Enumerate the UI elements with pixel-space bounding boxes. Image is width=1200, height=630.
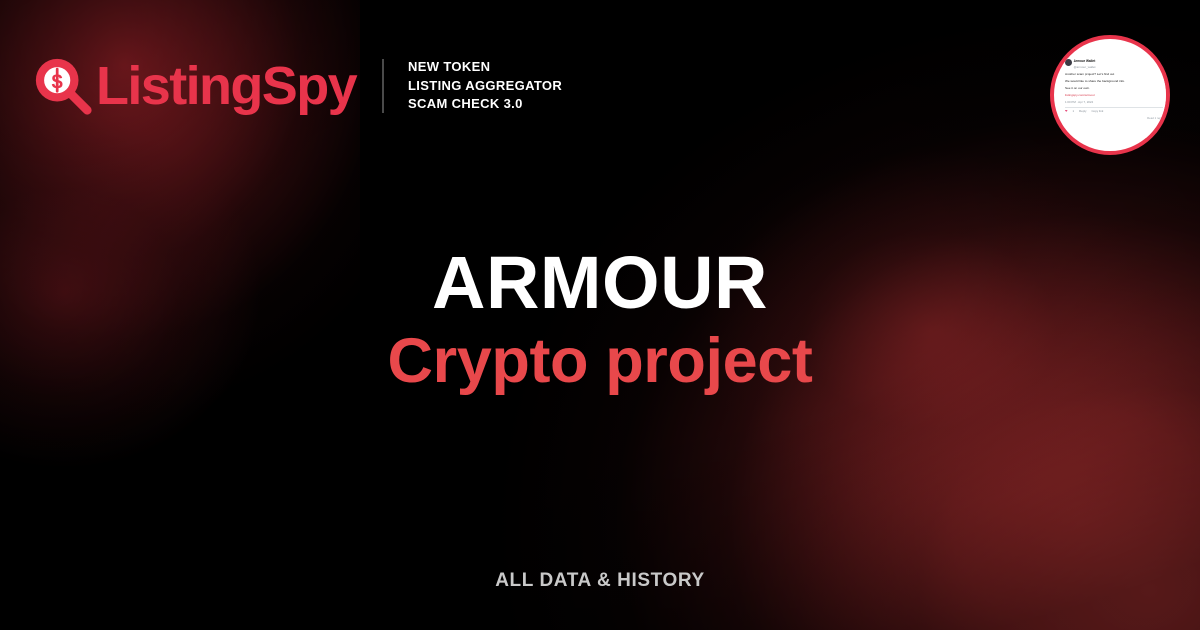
tweet-card: Armour Wallet @armour_wallet Another sca… [1062, 58, 1166, 138]
magnifier-dollar-icon: $ [32, 55, 94, 117]
avatar [1065, 59, 1072, 66]
tweet-link[interactable]: listingspy.com/armour [1065, 93, 1163, 98]
tweet-line-2: We would like to share the background in… [1065, 79, 1163, 84]
tweet-timestamp: 1:00 PM · Apr 7, 2024 [1065, 100, 1163, 105]
page-title: ARMOUR [0, 245, 1200, 320]
like-icon[interactable]: ❤ [1065, 109, 1067, 114]
tweet-line-3: See it on our own. [1065, 86, 1163, 91]
hero-block: ARMOUR Crypto project [0, 245, 1200, 395]
tweet-header: Armour Wallet @armour_wallet [1065, 59, 1163, 69]
tweet-handle: @armour_wallet [1074, 65, 1096, 70]
tweet-copylink-action[interactable]: Copy link [1091, 109, 1103, 114]
footer-block: ALL DATA & HISTORY [0, 570, 1200, 592]
header-divider [382, 59, 384, 113]
tagline-line-3: SCAM CHECK 3.0 [408, 95, 562, 113]
tagline-line-1: NEW TOKEN [408, 58, 562, 76]
listingspy-share-card: $ ListingSpy NEW TOKEN LISTING AGGREGATO… [0, 0, 1200, 630]
footer-caption: ALL DATA & HISTORY [0, 570, 1200, 592]
logo-wordmark: ListingSpy [96, 59, 356, 113]
tweet-display-name: Armour Wallet [1074, 59, 1096, 64]
tweet-body: Another scam project? Let's find out We … [1065, 72, 1163, 98]
page-subtitle: Crypto project [0, 328, 1200, 395]
tweet-author: Armour Wallet @armour_wallet [1074, 59, 1096, 69]
tweet-divider [1065, 107, 1163, 108]
tweet-actions: ❤ 1 Reply Copy link [1065, 109, 1163, 114]
tweet-reply-action[interactable]: Reply [1079, 109, 1086, 114]
tweet-like-count: 1 [1072, 109, 1074, 114]
tweet-line-1: Another scam project? Let's find out [1065, 72, 1163, 77]
brand-tagline: NEW TOKEN LISTING AGGREGATOR SCAM CHECK … [408, 58, 562, 113]
logo-wordmark-text: ListingSpy [96, 56, 356, 116]
logo-lockup[interactable]: $ ListingSpy [32, 55, 356, 117]
tagline-line-2: LISTING AGGREGATOR [408, 77, 562, 95]
brand-header: $ ListingSpy NEW TOKEN LISTING AGGREGATO… [32, 55, 562, 117]
tweet-screenshot-thumbnail[interactable]: Armour Wallet @armour_wallet Another sca… [1050, 35, 1170, 155]
tweet-read-replies[interactable]: Read 1 reply [1065, 116, 1163, 120]
